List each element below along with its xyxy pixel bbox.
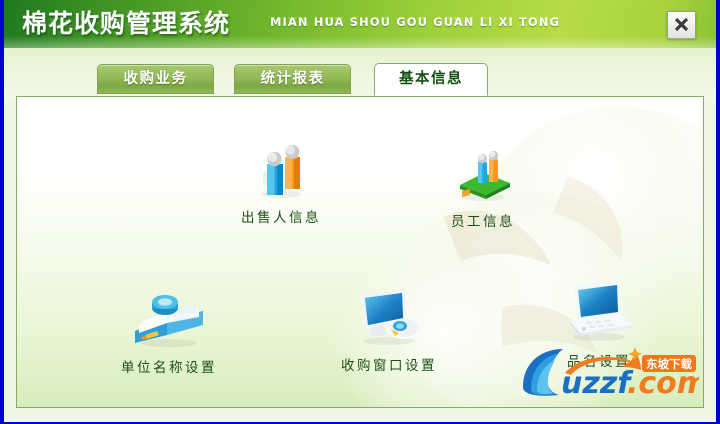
laptop-icon (529, 281, 669, 343)
icon-label: 品名设置 (529, 350, 669, 370)
icon-label: 单位名称设置 (99, 356, 239, 376)
icon-unit-name-settings[interactable]: 单位名称设置 (99, 287, 239, 376)
people-on-platform-icon (422, 141, 544, 203)
icon-purchase-window-settings[interactable]: 收购窗口设置 (319, 285, 459, 374)
close-button[interactable] (667, 11, 696, 39)
icon-product-name-settings[interactable]: 品名设置 (529, 281, 669, 370)
icon-label: 出售人信息 (220, 206, 342, 226)
close-icon (673, 16, 690, 33)
two-people-icon (220, 137, 342, 199)
app-title: 棉花收购管理系统 (22, 4, 230, 40)
watermark-domain: uzzf (561, 366, 634, 401)
monitor-mouse-icon (319, 285, 459, 347)
icon-label: 收购窗口设置 (319, 354, 459, 374)
icon-label: 员工信息 (422, 210, 544, 230)
book-stamp-icon (99, 287, 239, 349)
tab-statistics-report[interactable]: 统计报表 (234, 64, 351, 94)
icon-employee-info[interactable]: 员工信息 (422, 141, 544, 230)
icon-seller-info[interactable]: 出售人信息 (220, 137, 342, 226)
content-panel: 出售人信息 (16, 96, 704, 408)
tab-purchase-business[interactable]: 收购业务 (97, 64, 214, 94)
application-window: 棉花收购管理系统 棉花收购管理系统 MIAN HUA SHOU GOU GUAN… (0, 0, 720, 424)
title-bar: 棉花收购管理系统 棉花收购管理系统 MIAN HUA SHOU GOU GUAN… (4, 0, 716, 48)
tab-strip: 收购业务 统计报表 基本信息 (4, 48, 716, 100)
watermark-tld: .com (627, 366, 699, 401)
app-subtitle: MIAN HUA SHOU GOU GUAN LI XI TONG (270, 15, 560, 29)
tab-basic-info[interactable]: 基本信息 (374, 63, 488, 96)
